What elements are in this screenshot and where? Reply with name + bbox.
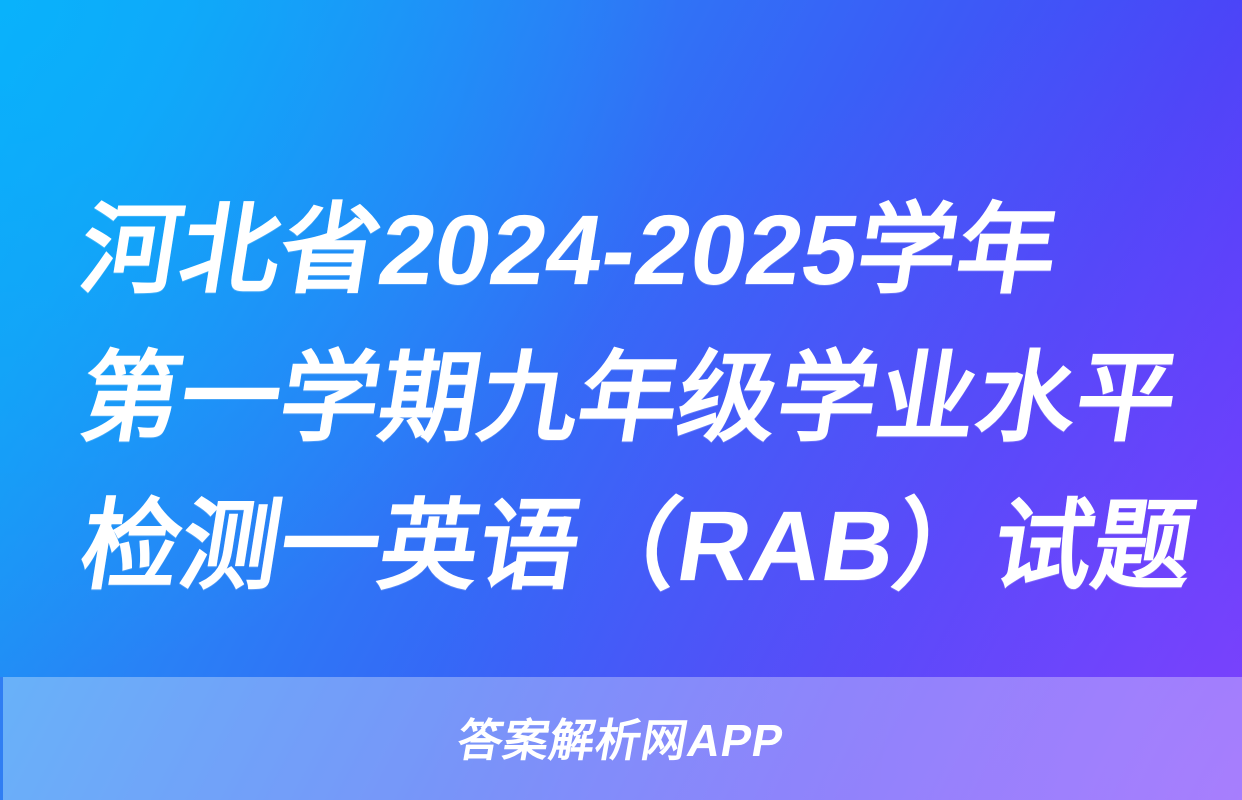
watermark-band: 答案解析网APP [0,677,1242,800]
title-line-2: 第一学期九年级学业水平 [70,324,1179,472]
title-line-3: 检测一英语（RAB）试题 [70,472,1179,620]
title-line-1: 河北省2024-2025学年 [70,176,1179,324]
app-watermark: 答案解析网APP [454,718,787,763]
page-title: 河北省2024-2025学年 第一学期九年级学业水平 检测一英语（RAB）试题 [82,176,1168,620]
exam-paper-banner: 河北省2024-2025学年 第一学期九年级学业水平 检测一英语（RAB）试题 … [0,0,1242,800]
band-left-edge-accent [0,677,3,800]
